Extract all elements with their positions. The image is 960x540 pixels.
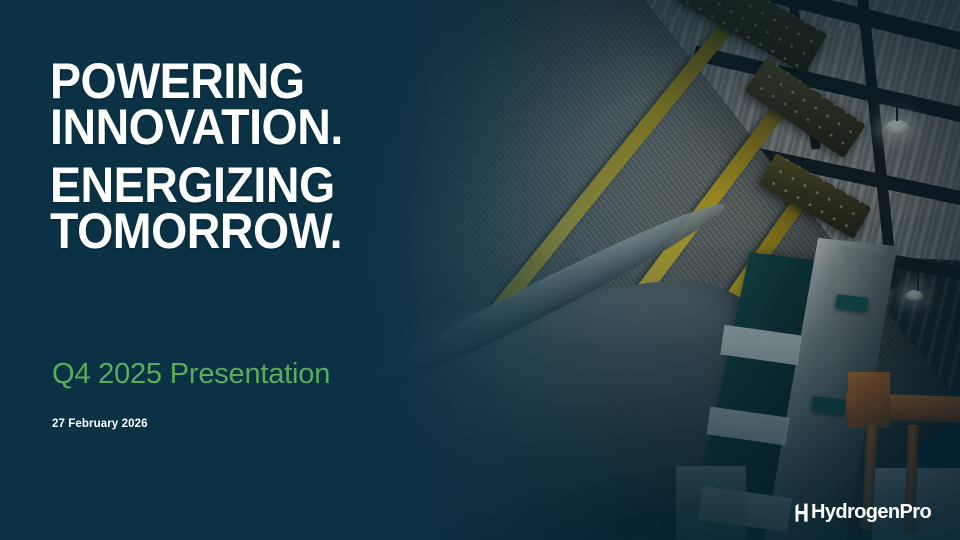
slide-subtitle: Q4 2025 Presentation [52,358,330,391]
logo-wordmark: HydrogenPro [811,502,931,522]
headline-line-3: ENERGIZING [50,162,343,208]
headline-line-2: INNOVATION. [50,104,343,150]
slide-date: 27 February 2026 [52,418,148,430]
hydrogenpro-logo: HydrogenPro [795,500,931,524]
headline-line-1: POWERING [50,58,343,104]
headline-line-4: TOMORROW. [50,208,343,254]
slide-headline: POWERING INNOVATION. ENERGIZING TOMORROW… [50,58,343,254]
angled-h-mark-icon [795,503,810,522]
presentation-slide: POWERING INNOVATION. ENERGIZING TOMORROW… [0,0,960,540]
